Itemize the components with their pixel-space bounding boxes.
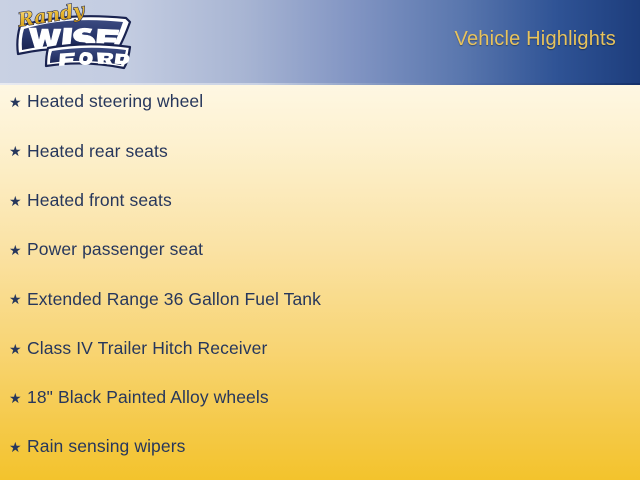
list-item: ★Heated rear seats xyxy=(9,138,168,164)
list-item: ★18" Black Painted Alloy wheels xyxy=(9,385,269,411)
logo-artwork: Randy xyxy=(4,0,136,76)
star-bullet-icon: ★ xyxy=(9,440,27,454)
feature-label: Heated rear seats xyxy=(27,142,168,161)
feature-label: Rain sensing wipers xyxy=(27,437,186,456)
star-bullet-icon: ★ xyxy=(9,194,27,208)
feature-label: Heated front seats xyxy=(27,191,172,210)
feature-label: Power passenger seat xyxy=(27,240,203,259)
star-bullet-icon: ★ xyxy=(9,342,27,356)
list-item: ★Extended Range 36 Gallon Fuel Tank xyxy=(9,286,321,312)
list-item: ★Class IV Trailer Hitch Receiver xyxy=(9,336,267,362)
star-bullet-icon: ★ xyxy=(9,144,27,158)
list-item: ★Power passenger seat xyxy=(9,237,203,263)
star-bullet-icon: ★ xyxy=(9,95,27,109)
feature-label: 18" Black Painted Alloy wheels xyxy=(27,388,269,407)
slide-header: Randy Vehicle Highlights xyxy=(0,0,640,85)
star-bullet-icon: ★ xyxy=(9,292,27,306)
vehicle-highlights-list: ★Heated steering wheel★Heated rear seats… xyxy=(0,85,640,480)
list-item: ★Rain sensing wipers xyxy=(9,434,186,460)
star-bullet-icon: ★ xyxy=(9,243,27,257)
page-title: Vehicle Highlights xyxy=(455,28,616,51)
list-item: ★Heated front seats xyxy=(9,188,172,214)
star-bullet-icon: ★ xyxy=(9,391,27,405)
feature-label: Extended Range 36 Gallon Fuel Tank xyxy=(27,290,321,309)
feature-label: Class IV Trailer Hitch Receiver xyxy=(27,339,267,358)
randy-wise-ford-logo: Randy xyxy=(4,0,136,76)
feature-label: Heated steering wheel xyxy=(27,92,203,111)
vehicle-highlights-slide: Randy Vehicle Highlights ★Heated steerin… xyxy=(0,0,640,480)
list-item: ★Heated steering wheel xyxy=(9,89,203,115)
